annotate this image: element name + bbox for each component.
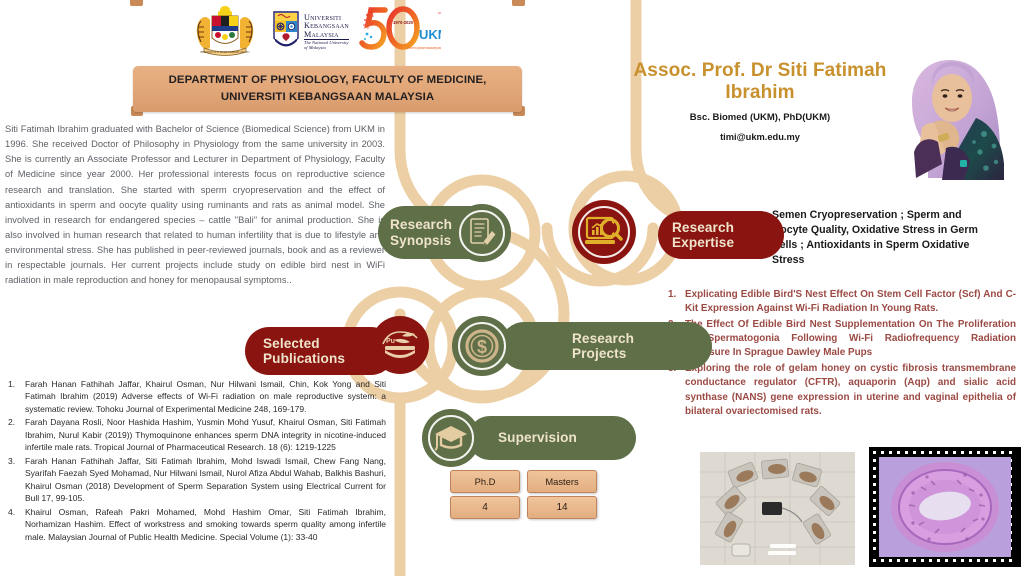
svg-text:™: ™	[437, 11, 441, 16]
badge-ring	[459, 210, 505, 256]
supervision-column-phd: Ph.D 4	[450, 470, 520, 519]
list-item-text: Farah Dayana Rosli, Noor Hashida Hashim,…	[25, 416, 386, 453]
list-item-text: Farah Hanan Fathihah Jaffar, Khairul Osm…	[25, 378, 386, 415]
jata-negara-logo: BERSEKUTU BERTAMBAH MUTU	[188, 4, 262, 61]
list-item: 1. Explicating Edible Bird'S Nest Effect…	[668, 288, 1016, 317]
list-item-number: 4.	[8, 506, 25, 543]
section-pill-supervision[interactable]: Supervision	[468, 416, 636, 460]
page-title: Assoc. Prof. Dr Siti Fatimah Ibrahim	[620, 60, 900, 105]
histology-slide-photo	[869, 447, 1021, 567]
list-item-number: 2.	[8, 416, 25, 453]
selected-publications-badge[interactable]: Pu	[371, 316, 429, 374]
svg-text:Pu: Pu	[386, 338, 395, 345]
list-item: 3. Farah Hanan Fathihah Jaffar, Siti Fat…	[8, 455, 386, 505]
list-item-number: 3.	[668, 362, 685, 419]
header-logo-row: BERSEKUTU BERTAMBAH MUTU Universiti	[188, 4, 458, 60]
list-item-text: The Effect Of Edible Bird Nest Supplemen…	[685, 318, 1016, 361]
research-expertise-text: Semen Cryopreservation ; Sperm and Oocyt…	[772, 208, 994, 268]
svg-text:1970-2020: 1970-2020	[393, 20, 414, 25]
badge-ring	[578, 206, 630, 258]
research-synopsis-badge[interactable]	[453, 204, 511, 262]
department-banner: DEPARTMENT OF PHYSIOLOGY, FACULTY OF MED…	[133, 66, 522, 112]
supervision-header-masters: Masters	[527, 470, 597, 493]
list-item-number: 1.	[8, 378, 25, 415]
supervision-value-masters: 14	[527, 496, 597, 519]
list-item-text: Farah Hanan Fathihah Jaffar, Siti Fatima…	[25, 455, 386, 505]
badge-ring	[458, 322, 506, 370]
section-pill-supervision-label: Supervision	[498, 430, 577, 445]
supervision-column-masters: Masters 14	[527, 470, 597, 519]
profile-name-block: Assoc. Prof. Dr Siti Fatimah Ibrahim Bsc…	[620, 60, 900, 142]
research-expertise-badge[interactable]	[572, 200, 636, 264]
ukm-50-anniversary-logo: 1970-2020 UKM #menciptamasadepan ™	[359, 6, 441, 59]
svg-text:BERSEKUTU BERTAMBAH MUTU: BERSEKUTU BERTAMBAH MUTU	[200, 50, 250, 54]
list-item-number: 3.	[8, 455, 25, 505]
research-projects-badge[interactable]: $	[452, 316, 512, 376]
avatar	[884, 56, 1016, 182]
section-pill-selected-publications-label: Selected Publications	[263, 336, 345, 366]
section-pill-research-expertise-label: Research Expertise	[672, 220, 734, 250]
poster-canvas: BERSEKUTU BERTAMBAH MUTU Universiti	[0, 0, 1024, 576]
rat-cages-experiment-photo	[700, 452, 855, 565]
supervision-badge[interactable]	[422, 409, 480, 467]
department-banner-line2: UNIVERSITI KEBANGSAAN MALAYSIA	[169, 89, 487, 106]
supervision-value-phd: 4	[450, 496, 520, 519]
ukm-crest-logo: Universiti Kebangsaan Malaysia The Natio…	[272, 10, 349, 54]
profile-email: timi@ukm.edu.my	[620, 132, 900, 142]
list-item-text: Khairul Osman, Rafeah Pakri Mohamed, Moh…	[25, 506, 386, 543]
list-item: 4. Khairul Osman, Rafeah Pakri Mohamed, …	[8, 506, 386, 543]
list-item: 2. Farah Dayana Rosli, Noor Hashida Hash…	[8, 416, 386, 453]
ukm-tagline-line2: of Malaysia	[304, 46, 349, 51]
list-item-text: Explicating Edible Bird'S Nest Effect On…	[685, 288, 1016, 317]
list-item: 3. Exploring the role of gelam honey on …	[668, 362, 1016, 419]
ukm-wordmark-line3: Malaysia	[304, 31, 349, 39]
section-pill-research-projects[interactable]: Research Projects	[500, 322, 712, 370]
section-pill-research-synopsis-label: Research Synopsis	[390, 217, 452, 247]
supervision-table: Ph.D 4 Masters 14	[450, 470, 597, 519]
svg-text:UKM: UKM	[419, 27, 441, 42]
publication-book-icon: Pu	[380, 328, 420, 362]
section-pill-research-projects-label: Research Projects	[572, 331, 634, 361]
banner-tab-right	[512, 0, 525, 6]
supervision-header-phd: Ph.D	[450, 470, 520, 493]
ukm-wordmark: Universiti Kebangsaan Malaysia The Natio…	[304, 14, 349, 50]
badge-ring	[428, 415, 474, 461]
banner-tab-left	[130, 0, 143, 6]
list-item-number: 1.	[668, 288, 685, 317]
list-item-text: Exploring the role of gelam honey on cys…	[685, 362, 1016, 419]
list-item: 2. The Effect Of Edible Bird Nest Supple…	[668, 318, 1016, 361]
biography-text: Siti Fatimah Ibrahim graduated with Bach…	[5, 122, 385, 288]
selected-publications-list: 1. Farah Hanan Fathihah Jaffar, Khairul …	[8, 378, 386, 544]
department-banner-line1: DEPARTMENT OF PHYSIOLOGY, FACULTY OF MED…	[169, 72, 487, 89]
section-pill-research-expertise[interactable]: Research Expertise	[658, 211, 784, 259]
profile-degrees: Bsc. Biomed (UKM), PhD(UKM)	[620, 112, 900, 123]
anniversary-hashtag: #menciptamasadepan	[407, 46, 441, 50]
research-projects-list: 1. Explicating Edible Bird'S Nest Effect…	[668, 288, 1016, 420]
list-item: 1. Farah Hanan Fathihah Jaffar, Khairul …	[8, 378, 386, 415]
